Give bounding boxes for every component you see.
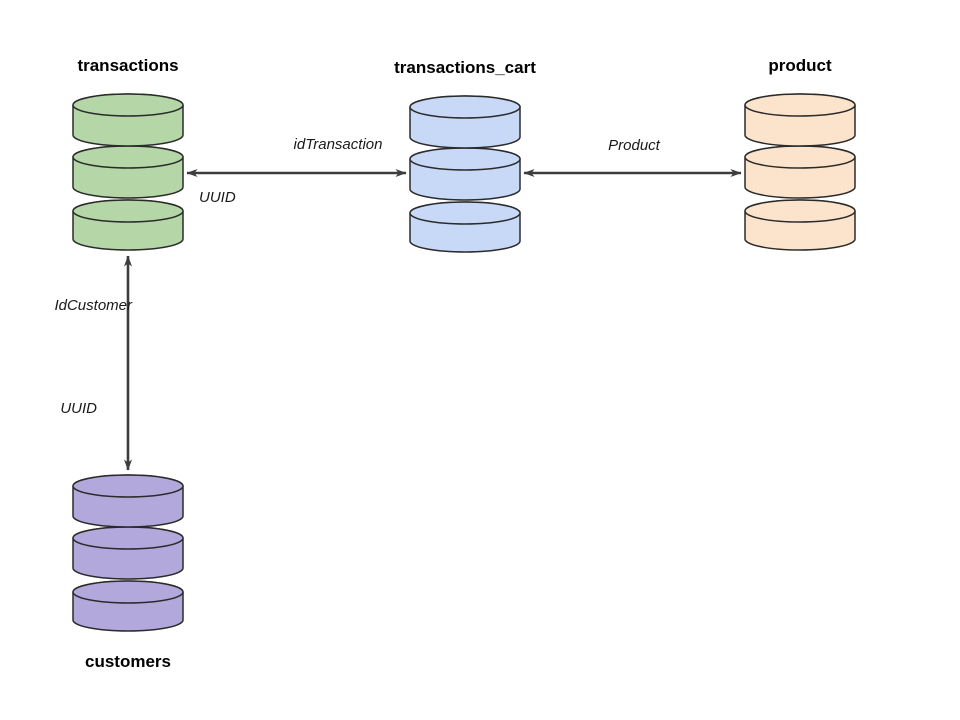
- db-node-transactions[interactable]: transactions: [72, 93, 184, 251]
- edge-label-id-customer: IdCustomer: [54, 297, 132, 315]
- db-node-title-transactions-cart: transactions_cart: [394, 58, 536, 78]
- database-cylinder-icon: [72, 474, 184, 632]
- db-node-title-customers: customers: [85, 652, 171, 672]
- database-cylinder-icon: [744, 93, 856, 251]
- edge-label-product: Product: [608, 137, 660, 155]
- db-node-title-transactions: transactions: [77, 56, 178, 76]
- edge-label-uuid-transactions: UUID: [199, 189, 236, 207]
- db-node-title-product: product: [768, 56, 831, 76]
- diagram-canvas: idTransaction UUID Product IdCustomer UU…: [0, 0, 960, 720]
- database-cylinder-icon: [409, 95, 521, 253]
- db-node-customers[interactable]: customers: [72, 474, 184, 632]
- edge-label-id-transaction: idTransaction: [294, 136, 383, 154]
- db-node-product[interactable]: product: [744, 93, 856, 251]
- edge-label-uuid-customers: UUID: [60, 400, 97, 418]
- database-cylinder-icon: [72, 93, 184, 251]
- db-node-transactions-cart[interactable]: transactions_cart: [409, 95, 521, 253]
